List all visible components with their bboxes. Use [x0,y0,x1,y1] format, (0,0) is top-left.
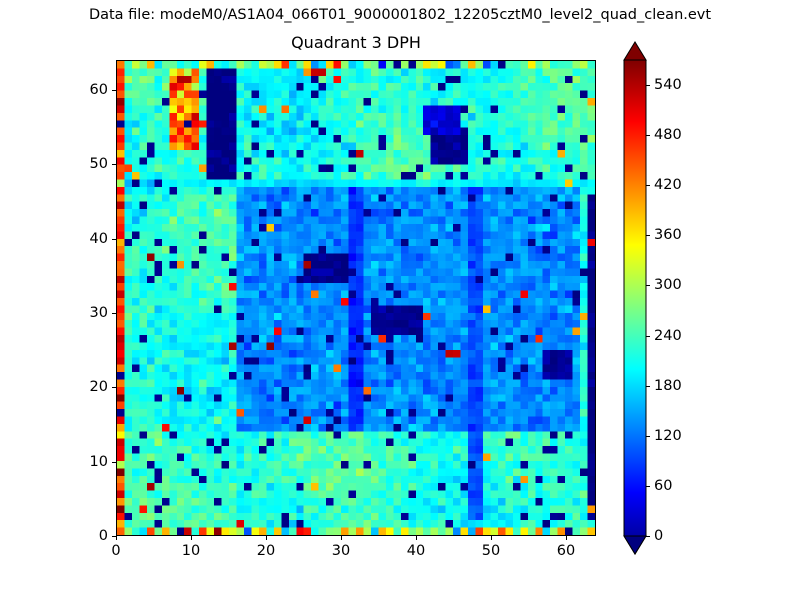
colorbar-body [624,60,646,554]
heatmap-axes [116,60,596,536]
y-tick-label: 20 [64,379,108,395]
colorbar-tick-mark [646,386,650,387]
y-tick-mark [112,90,116,91]
y-tick-mark [112,462,116,463]
x-tick-mark [416,536,417,540]
colorbar-tick-mark [646,486,650,487]
colorbar-tick-label: 420 [654,177,682,193]
colorbar-extend-top-arrow [624,42,646,60]
y-tick-mark [112,313,116,314]
colorbar-tick-mark [646,336,650,337]
x-tick-mark [566,536,567,540]
page-title: Quadrant 3 DPH [116,33,596,53]
x-tick-label: 30 [332,543,350,559]
y-tick-mark [112,387,116,388]
x-tick-label: 20 [257,543,275,559]
y-tick-label: 60 [64,82,108,98]
colorbar-tick-mark [646,185,650,186]
colorbar-tick-label: 480 [654,127,682,143]
colorbar-tick-label: 0 [654,528,663,544]
y-tick-label: 40 [64,231,108,247]
colorbar-tick-label: 300 [654,277,682,293]
colorbar-tick-mark [646,135,650,136]
colorbar-gradient [616,42,654,554]
y-tick-mark [112,164,116,165]
y-tick-mark [112,239,116,240]
y-tick-mark [112,536,116,537]
x-tick-mark [491,536,492,540]
y-tick-label: 0 [64,528,108,544]
colorbar-tick-mark [646,436,650,437]
colorbar-tick-mark [646,536,650,537]
x-tick-mark [191,536,192,540]
heatmap-image [117,61,595,535]
figure-canvas: Data file: modeM0/AS1A04_066T01_90000018… [0,0,800,600]
x-tick-label: 50 [482,543,500,559]
x-tick-mark [341,536,342,540]
colorbar-tick-label: 360 [654,227,682,243]
colorbar-tick-label: 60 [654,478,672,494]
colorbar-tick-label: 120 [654,428,682,444]
colorbar [624,60,646,536]
x-tick-label: 60 [557,543,575,559]
data-file-suptitle: Data file: modeM0/AS1A04_066T01_90000018… [0,6,800,24]
colorbar-tick-label: 180 [654,378,682,394]
y-tick-label: 10 [64,454,108,470]
y-tick-label: 50 [64,156,108,172]
colorbar-tick-label: 540 [654,77,682,93]
colorbar-tick-mark [646,285,650,286]
x-tick-label: 10 [182,543,200,559]
y-tick-label: 30 [64,305,108,321]
colorbar-tick-label: 240 [654,328,682,344]
x-tick-label: 0 [111,543,120,559]
x-tick-mark [266,536,267,540]
colorbar-extend-bottom-arrow [624,536,646,554]
colorbar-tick-mark [646,85,650,86]
colorbar-tick-mark [646,235,650,236]
x-tick-label: 40 [407,543,425,559]
x-tick-mark [116,536,117,540]
